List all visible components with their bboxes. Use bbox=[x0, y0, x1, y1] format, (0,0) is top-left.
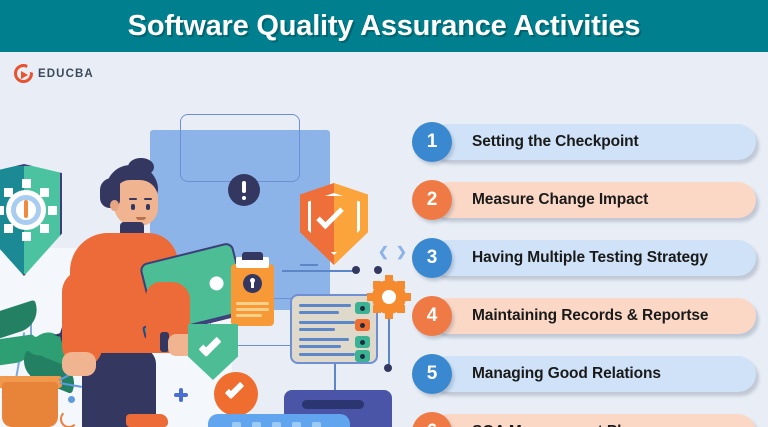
activity-number-badge: 1 bbox=[412, 122, 452, 162]
content-area: EDUCBA bbox=[0, 52, 768, 427]
activity-row-3[interactable]: 3 Having Multiple Testing Strategy bbox=[430, 240, 756, 276]
status-square bbox=[355, 350, 370, 362]
person-eyebrow bbox=[144, 198, 152, 200]
chevron-left-icon: ❮ bbox=[378, 244, 389, 260]
plant-pot bbox=[2, 382, 58, 427]
connector-line bbox=[300, 264, 318, 266]
connector-node bbox=[374, 266, 382, 274]
swirl-decoration bbox=[60, 410, 78, 427]
activity-row-5[interactable]: 5 Managing Good Relations bbox=[430, 356, 756, 392]
clipboard-clamp bbox=[242, 252, 263, 260]
activity-label: Maintaining Records & Reportse bbox=[472, 307, 708, 325]
activity-label: Measure Change Impact bbox=[472, 191, 648, 209]
status-square bbox=[355, 319, 370, 331]
activity-number-badge: 2 bbox=[412, 180, 452, 220]
activity-number-badge: 4 bbox=[412, 296, 452, 336]
activity-row-4[interactable]: 4 Maintaining Records & Reportse bbox=[430, 298, 756, 334]
person-hand bbox=[62, 352, 96, 376]
lock-icon bbox=[243, 274, 262, 293]
connector-node bbox=[384, 364, 392, 372]
illustration: ❮ ❯ bbox=[0, 52, 410, 427]
orange-gear-icon bbox=[372, 280, 406, 314]
activity-label: SQA Management Plan bbox=[472, 423, 639, 427]
page-title: Software Quality Assurance Activities bbox=[128, 10, 641, 43]
activity-number-badge: 6 bbox=[412, 412, 452, 427]
plus-decoration bbox=[174, 388, 188, 402]
connector-line bbox=[282, 270, 354, 272]
gear-dial-icon bbox=[0, 182, 54, 238]
person-mouth bbox=[136, 217, 146, 220]
orange-circle-check-icon bbox=[214, 372, 258, 416]
activity-label: Having Multiple Testing Strategy bbox=[472, 249, 708, 267]
activity-number-badge: 5 bbox=[412, 354, 452, 394]
status-square bbox=[355, 336, 370, 348]
connector-node bbox=[352, 266, 360, 274]
activity-label: Managing Good Relations bbox=[472, 365, 661, 383]
activity-number-badge: 3 bbox=[412, 238, 452, 278]
sprig-dot bbox=[68, 396, 75, 403]
clipboard-line bbox=[236, 308, 269, 311]
exclamation-badge-icon bbox=[228, 174, 260, 206]
activity-label: Setting the Checkpoint bbox=[472, 133, 639, 151]
clipboard-line bbox=[236, 302, 269, 305]
checklist-card bbox=[290, 294, 378, 364]
person-shoe bbox=[126, 414, 168, 427]
activities-list: 1 Setting the Checkpoint 2 Measure Chang… bbox=[412, 114, 756, 427]
person-ear bbox=[110, 200, 119, 211]
status-square bbox=[355, 302, 370, 314]
person-eye bbox=[146, 204, 150, 210]
server-rack-light bbox=[208, 414, 350, 427]
clipboard-line bbox=[236, 314, 262, 317]
activity-row-2[interactable]: 2 Measure Change Impact bbox=[430, 182, 756, 218]
connector-line bbox=[388, 314, 390, 366]
person-eyebrow bbox=[129, 198, 137, 200]
page-header: Software Quality Assurance Activities bbox=[0, 0, 768, 52]
activity-row-1[interactable]: 1 Setting the Checkpoint bbox=[430, 124, 756, 160]
person-eye bbox=[131, 204, 135, 210]
chevron-right-icon: ❯ bbox=[396, 244, 407, 260]
outline-frame-top bbox=[180, 114, 300, 182]
activity-row-6[interactable]: 6 SQA Management Plan bbox=[430, 414, 756, 427]
